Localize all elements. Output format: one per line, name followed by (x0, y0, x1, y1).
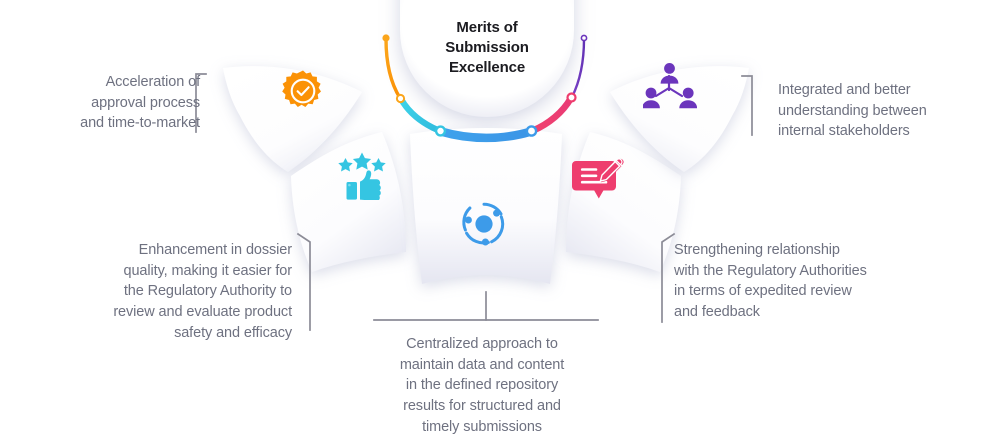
arc-node-cyan-blue[interactable] (436, 127, 445, 136)
team-hierarchy-icon (643, 62, 697, 110)
arc-segment-orange (386, 39, 400, 98)
arc-node-blue-pink[interactable] (527, 126, 536, 135)
feedback-edit-icon (572, 158, 624, 204)
arc-endpoint-purple (581, 35, 586, 40)
arc-segment-pink (532, 98, 571, 131)
arc-segment-purple (572, 39, 584, 97)
award-badge-check-icon (281, 69, 325, 113)
hub-orbit-icon (461, 201, 507, 247)
arc-segment-cyan (401, 99, 440, 131)
arc-node-orange-cyan[interactable] (397, 95, 404, 102)
arc-node-pink-purple[interactable] (568, 94, 576, 102)
thumbs-up-stars-icon (336, 152, 388, 200)
arc-endpoint-orange (382, 34, 389, 41)
arc-segment-blue (441, 132, 531, 138)
infographic-canvas: Merits of Submission Excellence Accelera… (0, 0, 1000, 443)
